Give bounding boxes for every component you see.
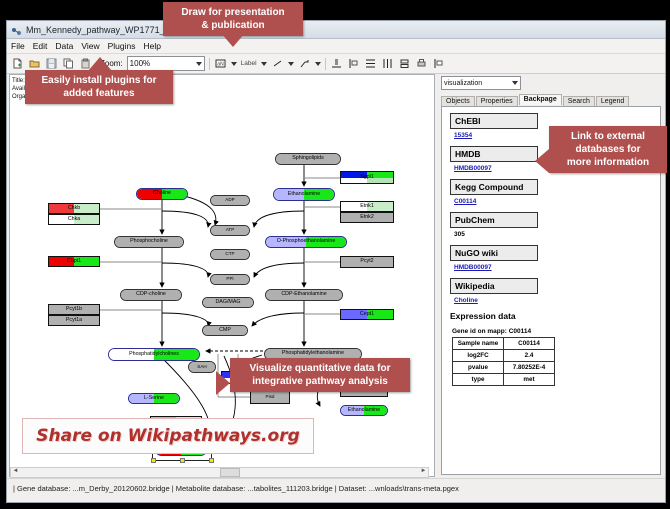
distribute-horizontal-icon[interactable] [381,57,394,70]
annotation-link-line1: Link to external [557,130,659,143]
align-bottom-icon[interactable] [330,57,343,70]
align-left-icon[interactable] [347,57,360,70]
selection-handle[interactable] [151,458,156,463]
annotation-external-links: Link to external databases for more info… [549,126,667,173]
menu-item-edit[interactable]: Edit [33,41,48,51]
scroll-right-arrow-icon[interactable]: ► [419,468,428,475]
visualization-select[interactable]: visualization [441,76,521,90]
node-label: Chka [68,217,80,222]
table-row: typemet [453,374,555,386]
table-row: Sample nameC00114 [453,338,555,350]
annotation-visualize-line1: Visualize quantitative data for [238,362,402,375]
expression-data-heading: Expression data [450,311,660,321]
database-value-kegg-compound[interactable]: C00114 [454,198,660,205]
node-label: Choline [153,191,171,196]
scrollbar-thumb[interactable] [220,468,240,477]
selection-handle[interactable] [209,458,214,463]
node-label: Pcyt2 [360,259,373,264]
gene-id-line: Gene id on mapp: C00114 [452,328,660,335]
tab-properties[interactable]: Properties [476,96,518,106]
annotation-install-plugins: Easily install plugins for added feature… [25,70,173,104]
annotation-draw-arrow-icon [221,33,245,47]
node-label: CDP-Ethanolamine [281,292,326,297]
canvas-horizontal-scrollbar[interactable]: ◄ ► [10,467,429,478]
print-icon[interactable] [415,57,428,70]
node-label: L-Serine [144,396,164,401]
label-tool[interactable]: Label [241,60,257,67]
annotation-plugins-line1: Easily install plugins for [33,74,165,87]
same-width-icon[interactable] [398,57,411,70]
pathway-node-sgpl1[interactable]: Sgpl1 [340,171,394,184]
expr-row-key: pvalue [453,362,504,374]
pathway-node-ophosphoethanolamine[interactable]: O-Phosphoethanolamine [265,236,347,248]
pathway-node-atp[interactable]: ATP [210,225,250,236]
node-label: Pisd [266,395,275,400]
database-header-pubchem: PubChem [450,212,538,228]
node-label: Chkb [68,206,80,211]
datanode-icon[interactable]: aN [214,57,227,70]
chevron-down-icon[interactable] [315,62,321,66]
copy-icon[interactable] [62,57,75,70]
node-label: Ethanolamine [348,408,380,413]
expr-row-key: Sample name [453,338,504,350]
pathway-node-pisd[interactable]: Pisd [250,391,290,404]
database-header-wikipedia: Wikipedia [450,278,538,294]
pathway-node-chpt1[interactable]: Chpt1 [48,256,100,267]
node-label: O-Phosphoethanolamine [277,239,336,244]
database-header-nugo-wiki: NuGO wiki [450,245,538,261]
annotation-plugins-line2: added features [33,87,165,100]
expr-row-key: log2FC [453,350,504,362]
annotation-visualize-arrow-icon [216,371,230,395]
pathway-node-ethanolamine_top[interactable]: Ethanolamine [273,188,335,201]
visualization-value: visualization [444,80,482,87]
pathway-node-etnk1[interactable]: Etnk1 [340,201,394,212]
toolbar-separator [209,58,210,70]
expr-row-key: type [453,374,504,386]
annotation-visualize-line2: integrative pathway analysis [238,375,402,388]
annotation-draw-line2: & publication [171,19,295,32]
node-label: Pcyt1a [66,318,82,323]
annotation-link-line3: more information [557,156,659,169]
order-front-icon[interactable] [432,57,445,70]
node-label: Phosphatidylcholines [129,352,179,357]
database-value-wikipedia[interactable]: Choline [454,297,660,304]
zoom-value: 100% [130,59,150,68]
node-label: ATP [226,228,235,233]
menu-item-view[interactable]: View [81,41,99,51]
chevron-down-icon[interactable] [261,62,267,66]
pathway-node-ppi[interactable]: PPi [210,274,250,285]
stack-vertical-icon[interactable] [364,57,377,70]
pathway-node-phosphatidylcholines[interactable]: Phosphatidylcholines [108,348,200,361]
pathvisio-icon [11,24,22,35]
database-header-kegg-compound: Kegg Compound [450,179,538,195]
pathway-node-sah[interactable]: SAH [188,361,216,373]
menu-item-data[interactable]: Data [55,41,73,51]
pathway-node-chka[interactable]: Chka [48,214,100,225]
node-label: Phosphocholine [130,239,168,244]
annotation-visualize-data: Visualize quantitative data for integrat… [230,358,410,392]
pathway-node-chkb[interactable]: Chkb [48,203,100,214]
table-row: pvalue7.80252E-4 [453,362,555,374]
toolbar-separator [325,58,326,70]
screenshot-root: Mm_Kennedy_pathway_WP1771_45176.gpml Fil… [0,0,670,509]
tab-backpage[interactable]: Backpage [519,94,562,105]
menu-item-help[interactable]: Help [144,41,161,51]
pathway-node-lserine_left[interactable]: L-Serine [128,393,180,404]
status-bar: | Gene database: ...m_Derby_20120602.bri… [7,478,665,502]
pathway-node-pcyt1a[interactable]: Pcyt1a [48,315,100,326]
pathway-node-adp[interactable]: ADP [210,195,250,206]
new-file-icon[interactable] [11,57,24,70]
node-label: Sgpl1 [360,175,374,180]
title-bar: Mm_Kennedy_pathway_WP1771_45176.gpml [7,21,665,39]
annotation-link-line2: databases for [557,143,659,156]
pathway-node-sphingolipids[interactable]: Sphingolipids [275,153,341,165]
open-folder-icon[interactable] [28,57,41,70]
node-label: Pcyt1b [66,307,82,312]
save-icon[interactable] [45,57,58,70]
database-header-hmdb: HMDB [450,146,538,162]
annotation-link-arrow-icon [535,149,549,173]
pathway-node-choline_top[interactable]: Choline [136,188,188,200]
menu-item-plugins[interactable]: Plugins [108,41,136,51]
node-label: Cept1 [360,312,374,317]
node-label: SAH [197,365,206,370]
pathway-node-pcyt2[interactable]: Pcyt2 [340,256,394,268]
node-label: DAG/MAG [215,300,240,305]
menu-bar: File Edit Data View Plugins Help [7,39,665,54]
node-label: Sphingolipids [292,156,324,161]
annotation-plugins-arrow-icon [88,57,112,71]
tab-legend[interactable]: Legend [596,96,629,106]
chevron-down-icon[interactable] [288,62,294,66]
database-value-nugo-wiki[interactable]: HMDB00097 [454,264,660,271]
table-row: log2FC2.4 [453,350,555,362]
node-label: CDP-choline [136,292,166,297]
expr-row-value: met [504,374,555,386]
tab-search[interactable]: Search [563,96,595,106]
annotation-share-wikipathways: Share on Wikipathways.org [22,418,314,454]
pathway-node-cept1[interactable]: Cept1 [340,309,394,320]
pathway-node-dagmag[interactable]: DAG/MAG [202,297,254,308]
node-label: Etnk2 [360,215,374,220]
node-label: PPi [226,277,233,282]
pathway-canvas[interactable]: Title: Availa Organi [9,74,435,477]
scroll-left-arrow-icon[interactable]: ◄ [11,468,20,475]
chevron-down-icon [512,81,518,85]
expr-row-value: 7.80252E-4 [504,362,555,374]
annotation-share-text: Share on Wikipathways.org [36,426,299,446]
expr-row-value: C00114 [504,338,555,350]
pathway-node-ethanolamine_right[interactable]: Ethanolamine [340,405,388,416]
line-tool[interactable] [271,57,284,70]
selection-handle[interactable] [180,458,185,463]
status-bar-text: | Gene database: ...m_Derby_20120602.bri… [13,484,459,493]
database-value-pubchem: 305 [454,231,660,238]
side-panel-tabs: Objects Properties Backpage Search Legen… [441,93,663,106]
svg-text:aN: aN [217,62,224,68]
expr-row-value: 2.4 [504,350,555,362]
chevron-down-icon[interactable] [231,62,237,66]
chevron-down-icon [196,62,202,66]
expression-table: Sample nameC00114log2FC2.4pvalue7.80252E… [452,337,555,386]
zoom-combo[interactable]: 100% [127,56,205,71]
annotation-draw-for-publication: Draw for presentation & publication [163,2,303,36]
database-header-chebi: ChEBI [450,113,538,129]
node-label: Phosphatidylethanolamine [282,351,344,356]
pathway-node-cmp[interactable]: CMP [202,325,248,336]
menu-item-file[interactable]: File [11,41,25,51]
pathway-node-pcyt1b[interactable]: Pcyt1b [48,304,100,315]
pathway-node-phosphocholine[interactable]: Phosphocholine [114,236,184,248]
node-label: Chpt1 [67,259,81,264]
node-label: CMP [219,328,231,333]
tab-objects[interactable]: Objects [441,96,475,106]
node-label: ADP [225,198,234,203]
pathway-node-cdpethanolamine[interactable]: CDP-Ethanolamine [265,289,343,301]
annotation-draw-line1: Draw for presentation [171,6,295,19]
pathway-node-etnk2[interactable]: Etnk2 [340,212,394,223]
node-label: Ethanolamine [288,192,320,197]
node-label: Etnk1 [360,204,374,209]
pathway-node-cdpcholine[interactable]: CDP-choline [120,289,182,301]
pathway-node-ctp[interactable]: CTP [210,249,250,260]
interaction-tool[interactable] [298,57,311,70]
node-label: CTP [225,252,234,257]
